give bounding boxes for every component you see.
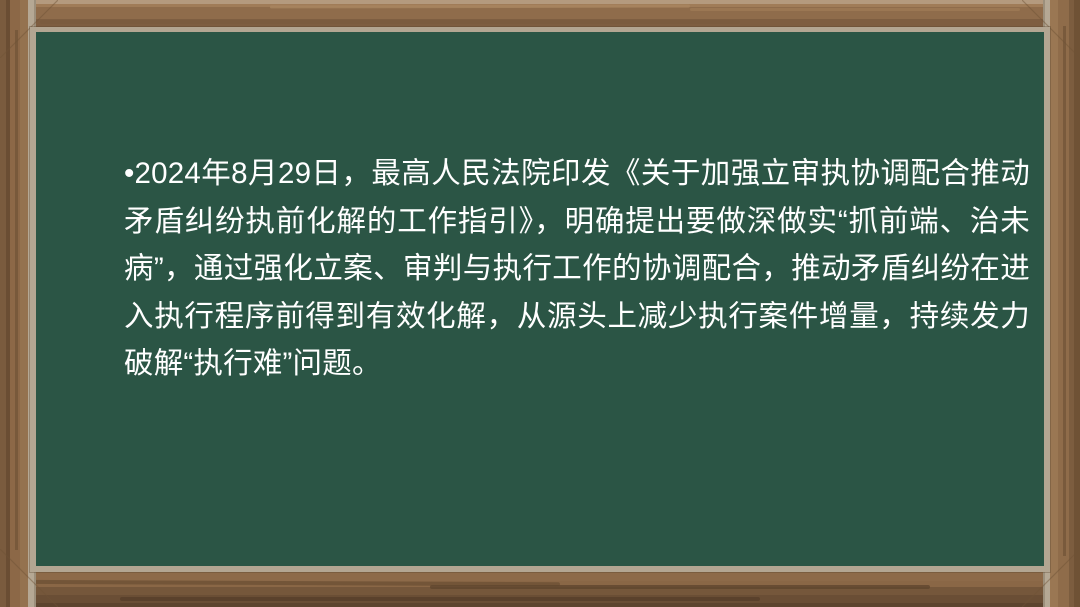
wood-grain-line (15, 30, 18, 550)
wood-grain-line (120, 597, 760, 601)
wood-grain-line (40, 20, 740, 24)
slide-body-text: •2024年8月29日，最高人民法院印发《关于加强立审执协调配合推动矛盾纠纷执前… (124, 150, 1030, 388)
wood-grain-line (430, 585, 930, 589)
wood-grain-line (270, 5, 690, 9)
wood-grain-line (1063, 26, 1066, 556)
wood-grain-line (690, 8, 1020, 11)
chalkboard-slide: •2024年8月29日，最高人民法院印发《关于加强立审执协调配合推动矛盾纠纷执前… (0, 0, 1080, 607)
chalkboard-surface: •2024年8月29日，最高人民法院印发《关于加强立审执协调配合推动矛盾纠纷执前… (36, 32, 1044, 566)
